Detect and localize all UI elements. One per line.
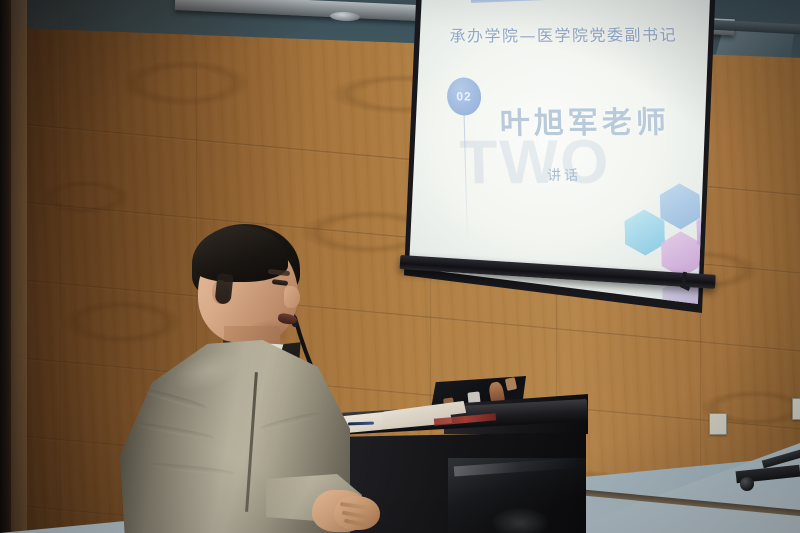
panel-joint — [60, 18, 62, 533]
slide-heading: 承办学院—医学院党委副书记 — [449, 21, 700, 46]
speaker-person — [120, 222, 350, 533]
photo-scene: 大学生课外学术科技作品竞赛 TWO 02 承办学院—医学院党委副书记 叶旭军老师… — [0, 0, 800, 533]
slide-hexagon — [624, 209, 665, 255]
lectern-emblem — [492, 508, 548, 533]
wall-outlet-1 — [709, 413, 727, 435]
slide-content: 大学生课外学术科技作品竞赛 TWO 02 承办学院—医学院党委副书记 叶旭军老师… — [404, 0, 716, 281]
slide-hexagon — [659, 183, 700, 229]
slide-number-badge: 02 — [447, 77, 482, 115]
room-corner-left-edge — [11, 0, 27, 533]
nose — [284, 286, 300, 308]
wood-knot — [40, 180, 130, 214]
laptop-sticker-4 — [505, 377, 517, 391]
wood-knot — [120, 60, 250, 106]
cart-wheel — [740, 477, 754, 491]
slide-top-banner — [470, 0, 716, 3]
wall-outlet-2 — [792, 398, 800, 420]
slide-speaker-name: 叶旭军老师 — [499, 97, 716, 142]
slide-subtitle: 讲话 — [547, 165, 582, 185]
projection-screen: 大学生课外学术科技作品竞赛 TWO 02 承办学院—医学院党委副书记 叶旭军老师… — [404, 0, 716, 340]
slide-hexagon — [661, 231, 702, 277]
